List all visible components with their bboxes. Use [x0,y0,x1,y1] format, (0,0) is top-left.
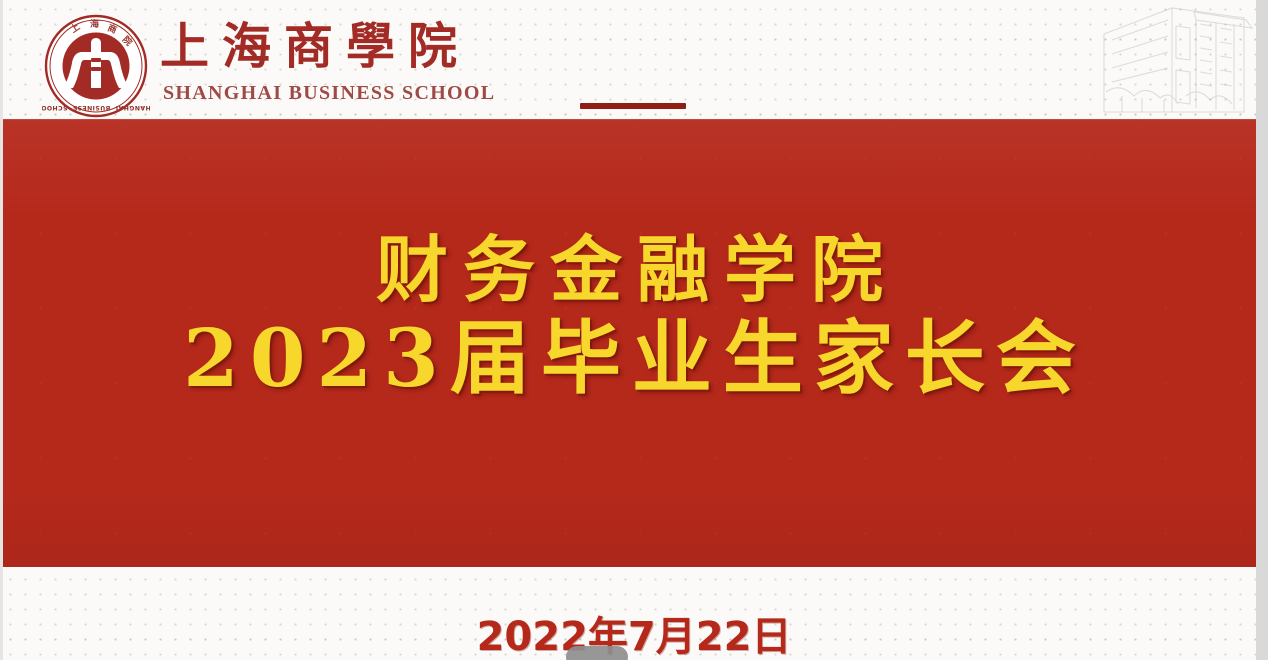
banner-title-line-1: 财务金融学院 [3,231,1256,309]
header-accent-rule [580,103,686,109]
event-date: 2022年7月22日 [0,604,1268,660]
slide-header: 上 海 商 院 SHANGHAI BUSINESS SCHOOL 上海商學院 S… [0,0,1268,119]
school-name-chinese: 上海商學院 [160,22,470,71]
page-right-gutter [1256,0,1268,660]
school-name-english: SHANGHAI BUSINESS SCHOOL [163,83,495,103]
banner-title-line-2: 2023届毕业生家长会 [3,315,1256,401]
campus-building-watermark-icon [1076,0,1256,119]
media-control-pill[interactable] [566,646,628,660]
school-seal-icon: 上 海 商 院 SHANGHAI BUSINESS SCHOOL [42,14,150,118]
red-title-banner: 财务金融学院 2023届毕业生家长会 [3,119,1256,567]
banner-title-group: 财务金融学院 2023届毕业生家长会 [3,231,1256,401]
svg-text:海: 海 [90,18,99,30]
svg-text:SHANGHAI BUSINESS SCHOOL: SHANGHAI BUSINESS SCHOOL [42,104,150,111]
presentation-slide: 上 海 商 院 SHANGHAI BUSINESS SCHOOL 上海商學院 S… [0,0,1268,660]
